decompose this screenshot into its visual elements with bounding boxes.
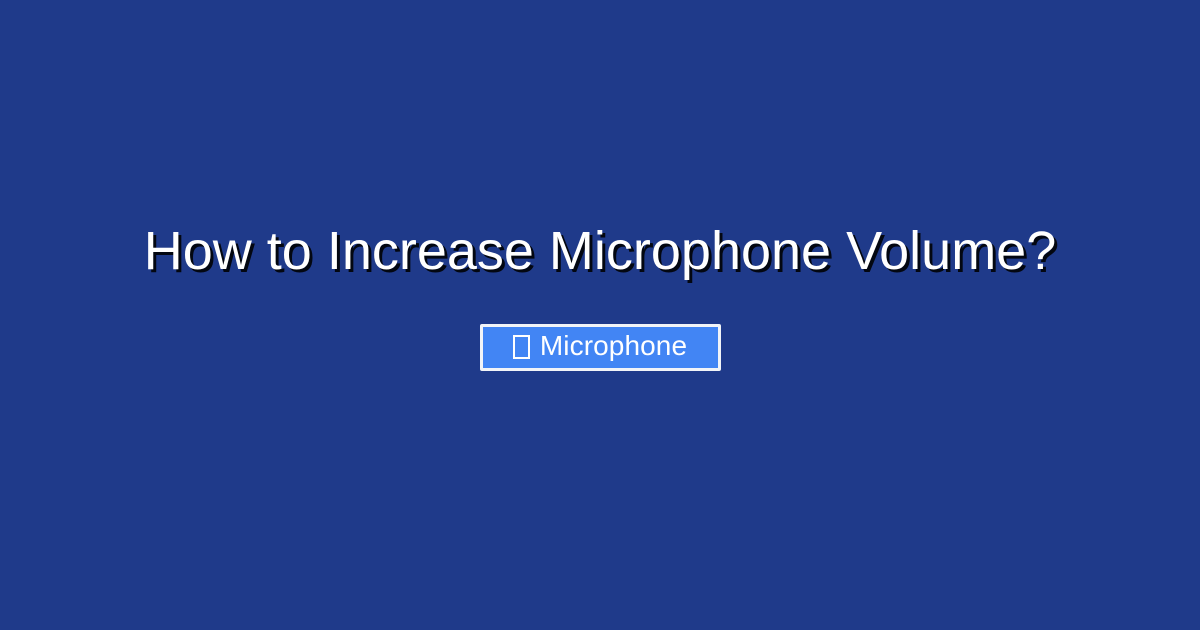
page-title: How to Increase Microphone Volume? [144, 221, 1057, 281]
content-stack: How to Increase Microphone Volume? Micro… [0, 221, 1200, 370]
slide-card: How to Increase Microphone Volume? Micro… [0, 0, 1200, 630]
topic-chip-microphone[interactable]: Microphone [480, 324, 721, 371]
microphone-icon [513, 335, 530, 359]
topic-chip-label: Microphone [540, 332, 687, 360]
